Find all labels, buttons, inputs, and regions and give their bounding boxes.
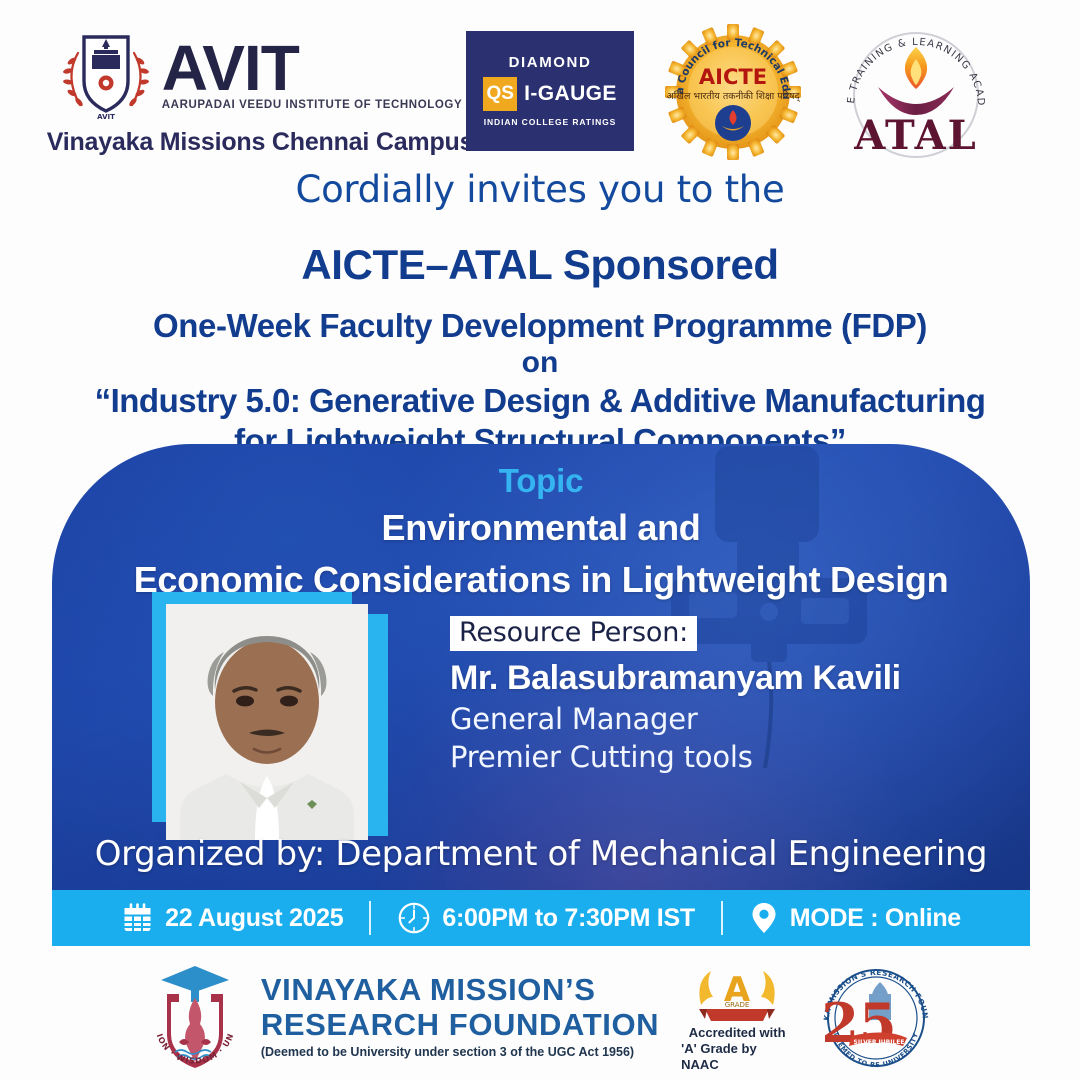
atal-acronym: ATAL (853, 112, 978, 159)
avit-expansion: AARUPADAI VEEDU INSTITUTE OF TECHNOLOGY (162, 99, 462, 111)
topic-label: Topic (52, 444, 1030, 500)
speaker-photo-holder (152, 592, 402, 852)
event-date: 22 August 2025 (165, 904, 343, 933)
avit-crest-icon: AVIT (58, 25, 154, 125)
speaker-role: General Manager (450, 702, 901, 736)
calendar-icon (121, 902, 154, 935)
on-word: on (0, 346, 1080, 380)
topic-title-line1: Environmental and (52, 504, 1030, 552)
speaker-name: Mr. Balasubramanyam Kavili (450, 659, 901, 698)
qs-mark-icon: QS (483, 77, 517, 111)
avit-acronym: AVIT (162, 38, 462, 99)
speaker-photo (166, 604, 368, 840)
qs-rating-label: DIAMOND (509, 54, 592, 71)
qs-igauge-badge: DIAMOND QS I-GAUGE INDIAN COLLEGE RATING… (466, 31, 634, 151)
silver-jubilee-logo: VINAYAKA MISSION'S RESEARCH FOUNDATION D… (815, 960, 937, 1072)
sponsor-line: AICTE–ATAL Sponsored (0, 241, 1080, 289)
naac-accreditation-logo: A GRADE Accredited with 'A' Grade by NAA… (681, 959, 793, 1074)
programme-title-line1: “Industry 5.0: Generative Design & Addit… (0, 382, 1080, 421)
vmrf-line1: VINAYAKA MISSION’S (261, 973, 659, 1008)
aicte-devanagari: अखिल भारतीय तकनीकी शिक्षा परिषद् (666, 90, 800, 102)
aicte-acronym: AICTE (699, 65, 767, 89)
naac-grade-icon: A GRADE (689, 959, 785, 1025)
event-mode: MODE : Online (790, 904, 961, 933)
clock-icon (397, 901, 431, 935)
cordial-invite-line: Cordially invites you to the (0, 168, 1080, 211)
programme-line: One-Week Faculty Development Programme (… (0, 307, 1080, 346)
avit-crest-label: AVIT (97, 113, 115, 121)
footer-logo-strip: VISION · WISDOM · UNITY VINAYAKA MISSION… (0, 954, 1080, 1078)
jubilee-ribbon-text: SILVER JUBILEE (854, 1039, 905, 1046)
vmrf-line3: (Deemed to be University under section 3… (261, 1045, 659, 1059)
qs-tagline: INDIAN COLLEGE RATINGS (484, 117, 617, 127)
naac-line2: 'A' Grade by NAAC (681, 1041, 793, 1074)
avit-campus-line: Vinayaka Missions Chennai Campus (47, 128, 474, 157)
avit-logo: AVIT AVIT AARUPADAI VEEDU INSTITUTE OF T… (80, 25, 440, 157)
header-logo-strip: AVIT AVIT AARUPADAI VEEDU INSTITUTE OF T… (0, 18, 1080, 163)
organized-by-line: Organized by: Department of Mechanical E… (52, 834, 1030, 874)
event-time: 6:00PM to 7:30PM IST (442, 904, 694, 933)
vmrf-logo: VISION · WISDOM · UNITY VINAYAKA MISSION… (143, 958, 659, 1075)
detail-mode: MODE : Online (723, 901, 987, 935)
naac-line1: Accredited with (689, 1025, 786, 1041)
vmrf-emblem-icon: VISION · WISDOM · UNITY (143, 958, 247, 1075)
vmrf-line2: RESEARCH FOUNDATION (261, 1008, 659, 1043)
event-details-bar: 22 August 2025 (52, 890, 1030, 946)
detail-time: 6:00PM to 7:30PM IST (371, 901, 720, 935)
event-poster: AVIT AVIT AARUPADAI VEEDU INSTITUTE OF T… (0, 0, 1080, 1080)
invitation-heading-block: Cordially invites you to the AICTE–ATAL … (0, 168, 1080, 461)
speaker-info: Resource Person: Mr. Balasubramanyam Kav… (450, 592, 901, 774)
detail-date: 22 August 2025 (95, 902, 369, 935)
naac-grade-sub: GRADE (725, 1001, 750, 1009)
speaker-section: Resource Person: Mr. Balasubramanyam Kav… (52, 592, 1030, 852)
atal-logo: AICTE TRAINING & LEARNING ACADEMY ATAL (832, 21, 1000, 161)
topic-panel: Topic Environmental and Economic Conside… (52, 444, 1030, 946)
aicte-logo: All India Council for Technical Educatio… (660, 22, 806, 160)
location-pin-icon (749, 901, 779, 935)
qs-brand-label: I-GAUGE (524, 82, 617, 106)
resource-person-label: Resource Person: (450, 616, 697, 651)
speaker-organisation: Premier Cutting tools (450, 740, 901, 774)
